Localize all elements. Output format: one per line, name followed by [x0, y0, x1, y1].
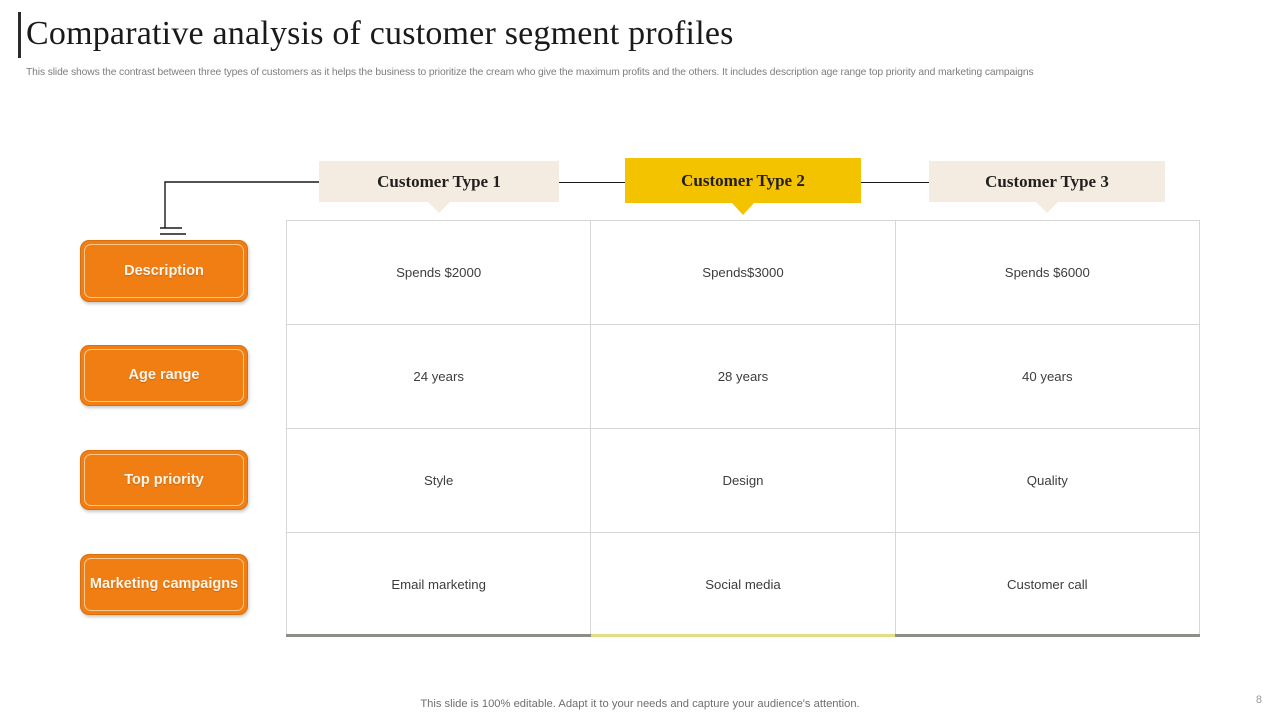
pointer-triangle-icon — [1036, 202, 1058, 213]
table-baseline — [286, 634, 1200, 637]
table-cell: Spends $6000 — [896, 221, 1199, 324]
row-label-text: Marketing campaigns — [90, 575, 238, 594]
header-connector-1 — [559, 182, 625, 183]
table-row: Style Design Quality — [287, 429, 1199, 533]
row-label-marketing-campaigns[interactable]: Marketing campaigns — [80, 554, 248, 615]
table-cell: Social media — [591, 533, 895, 636]
column-header-customer-type-2[interactable]: Customer Type 2 — [625, 158, 861, 203]
table-cell: Customer call — [896, 533, 1199, 636]
header-connector-2 — [861, 182, 929, 183]
pointer-triangle-icon — [428, 202, 450, 213]
table-cell: 28 years — [591, 325, 895, 428]
row-label-top-priority[interactable]: Top priority — [80, 450, 248, 510]
table-cell: Spends $2000 — [287, 221, 591, 324]
table-row: Spends $2000 Spends$3000 Spends $6000 — [287, 221, 1199, 325]
table-cell: Email marketing — [287, 533, 591, 636]
column-header-customer-type-3[interactable]: Customer Type 3 — [929, 161, 1165, 202]
column-header-label: Customer Type 1 — [377, 172, 501, 192]
pointer-triangle-icon — [732, 203, 754, 215]
footer-note: This slide is 100% editable. Adapt it to… — [0, 698, 1280, 710]
table-row: Email marketing Social media Customer ca… — [287, 533, 1199, 636]
page-number: 8 — [1256, 694, 1262, 706]
table-row: 24 years 28 years 40 years — [287, 325, 1199, 429]
title-accent-bar — [18, 12, 21, 58]
column-header-label: Customer Type 3 — [985, 172, 1109, 192]
baseline-segment-1 — [286, 634, 591, 637]
table-cell: Quality — [896, 429, 1199, 532]
comparison-table: Spends $2000 Spends$3000 Spends $6000 24… — [286, 220, 1200, 636]
row-label-text: Top priority — [124, 471, 203, 490]
column-header-customer-type-1[interactable]: Customer Type 1 — [319, 161, 559, 202]
page-subtitle: This slide shows the contrast between th… — [26, 66, 1241, 79]
row-label-text: Description — [124, 262, 204, 281]
table-cell: Style — [287, 429, 591, 532]
table-cell: 40 years — [896, 325, 1199, 428]
baseline-segment-2 — [591, 634, 896, 637]
page-title: Comparative analysis of customer segment… — [26, 13, 1246, 55]
table-cell: Spends$3000 — [591, 221, 895, 324]
table-cell: Design — [591, 429, 895, 532]
baseline-segment-3 — [895, 634, 1200, 637]
row-label-text: Age range — [129, 366, 200, 385]
row-label-description[interactable]: Description — [80, 240, 248, 302]
row-label-age-range[interactable]: Age range — [80, 345, 248, 406]
column-header-label: Customer Type 2 — [681, 171, 805, 191]
table-cell: 24 years — [287, 325, 591, 428]
